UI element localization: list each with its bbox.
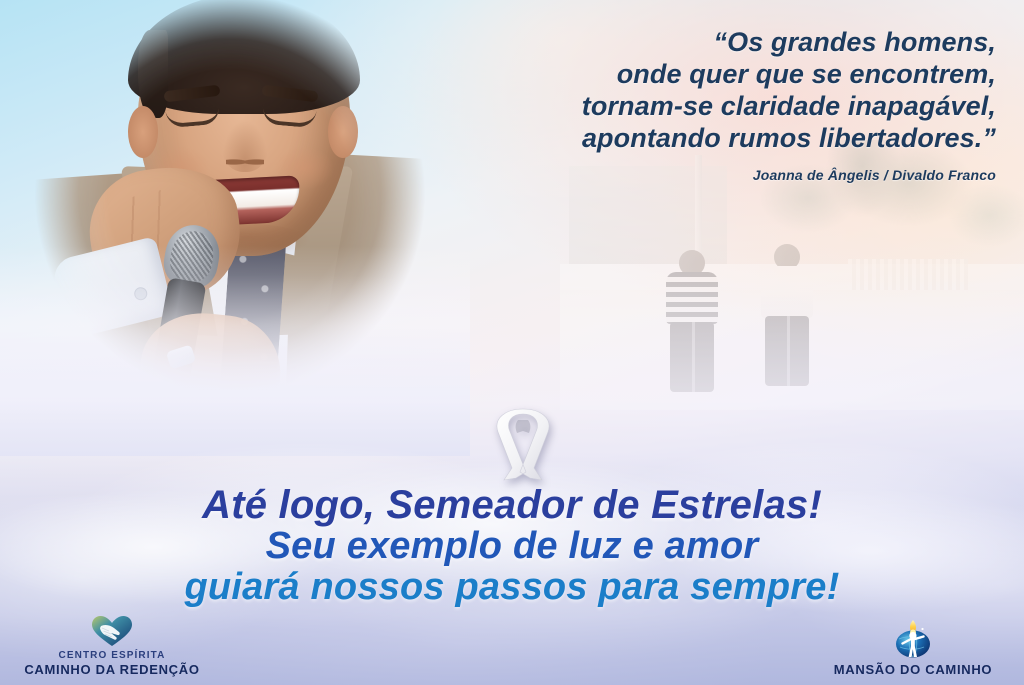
logo-left-line-2: CAMINHO DA REDENÇÃO [12, 662, 212, 677]
logo-centro-espirita-caminho-da-redencao[interactable]: CENTRO ESPÍRITA CAMINHO DA REDENÇÃO [12, 615, 212, 677]
headline-line-1: Até logo, Semeador de Estrelas! [0, 485, 1024, 526]
hands-heart-icon [91, 615, 133, 647]
quote-line-2: onde quer que se encontrem, [436, 58, 996, 90]
globe-figure-flame-icon [891, 619, 935, 659]
quote-line-4: apontando rumos libertadores.” [436, 122, 996, 154]
quote-block: “Os grandes homens, onde quer que se enc… [436, 26, 996, 183]
hair [128, 0, 360, 114]
quote-line-1: “Os grandes homens, [436, 26, 996, 58]
logo-left-line-1: CENTRO ESPÍRITA [12, 650, 212, 662]
logo-right-line-1: MANSÃO DO CAMINHO [808, 662, 1018, 677]
headline-line-3: guiará nossos passos para sempre! [0, 567, 1024, 608]
memorial-poster: “Os grandes homens, onde quer que se enc… [0, 0, 1024, 685]
logo-mansao-do-caminho[interactable]: MANSÃO DO CAMINHO [808, 619, 1018, 677]
white-awareness-ribbon-icon [492, 408, 554, 488]
nose [222, 120, 268, 172]
quote-line-3: tornam-se claridade inapagável, [436, 90, 996, 122]
headline-line-2: Seu exemplo de luz e amor [0, 526, 1024, 567]
ear-right [328, 106, 358, 158]
quote-attribution: Joanna de Ângelis / Divaldo Franco [436, 167, 996, 183]
ear-left [128, 106, 158, 158]
headline-block: Até logo, Semeador de Estrelas! Seu exem… [0, 485, 1024, 608]
